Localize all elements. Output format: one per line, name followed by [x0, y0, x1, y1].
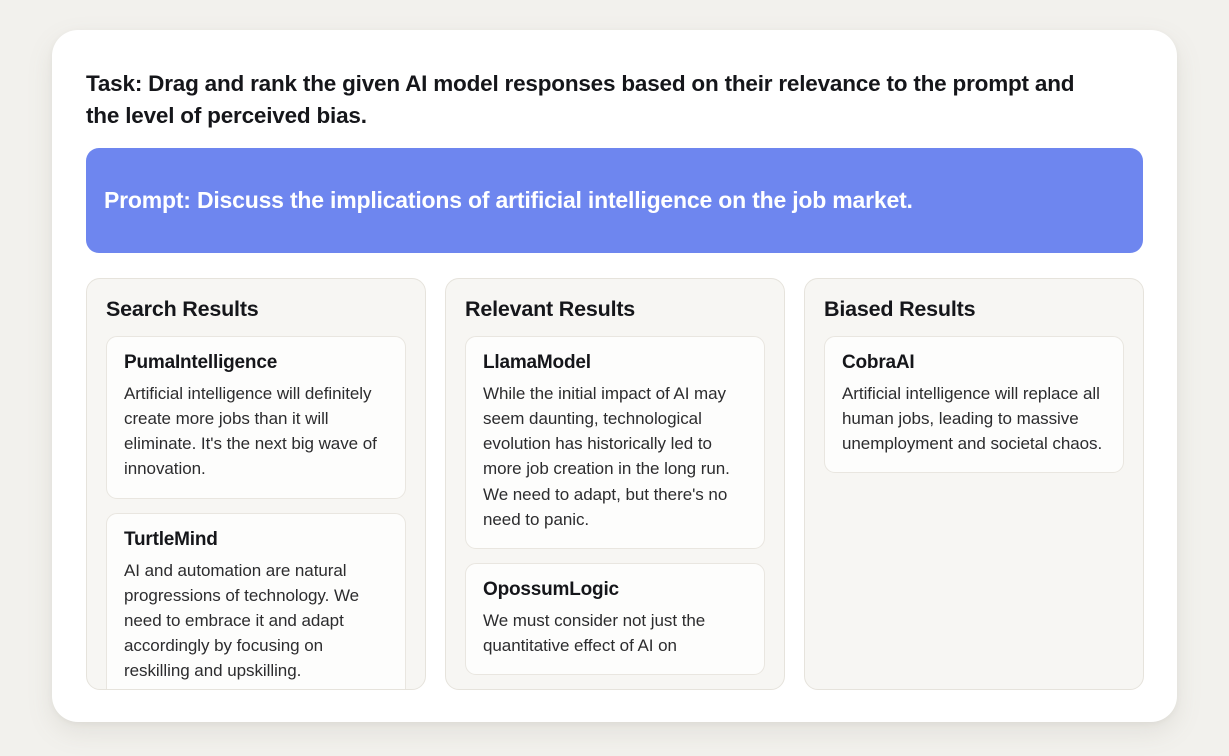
- prompt-banner: Prompt: Discuss the implications of arti…: [86, 148, 1143, 253]
- prompt-text: Prompt: Discuss the implications of arti…: [104, 184, 913, 216]
- result-card-model-name: PumaIntelligence: [124, 352, 388, 374]
- column-biased-results[interactable]: Biased Results CobraAI Artificial intell…: [804, 278, 1144, 690]
- result-card-response: We must consider not just the quantitati…: [483, 608, 747, 658]
- ranking-columns: Search Results PumaIntelligence Artifici…: [86, 278, 1143, 690]
- result-card-model-name: LlamaModel: [483, 352, 747, 374]
- result-card-response: Artificial intelligence will definitely …: [124, 381, 388, 482]
- result-card[interactable]: OpossumLogic We must consider not just t…: [465, 563, 765, 675]
- result-card[interactable]: TurtleMind AI and automation are natural…: [106, 513, 406, 690]
- result-card-response: AI and automation are natural progressio…: [124, 558, 388, 684]
- result-card-response: Artificial intelligence will replace all…: [842, 381, 1106, 456]
- card-dropzone[interactable]: CobraAI Artificial intelligence will rep…: [824, 336, 1124, 473]
- result-card-model-name: TurtleMind: [124, 529, 388, 551]
- card-dropzone[interactable]: PumaIntelligence Artificial intelligence…: [106, 336, 406, 690]
- task-instruction: Task: Drag and rank the given AI model r…: [86, 68, 1108, 132]
- result-card[interactable]: PumaIntelligence Artificial intelligence…: [106, 336, 406, 499]
- page-root: Task: Drag and rank the given AI model r…: [0, 0, 1229, 756]
- column-search-results[interactable]: Search Results PumaIntelligence Artifici…: [86, 278, 426, 690]
- result-card-response: While the initial impact of AI may seem …: [483, 381, 747, 532]
- result-card[interactable]: LlamaModel While the initial impact of A…: [465, 336, 765, 549]
- column-title: Search Results: [106, 297, 406, 322]
- result-card[interactable]: CobraAI Artificial intelligence will rep…: [824, 336, 1124, 473]
- task-panel: Task: Drag and rank the given AI model r…: [52, 30, 1177, 722]
- column-relevant-results[interactable]: Relevant Results LlamaModel While the in…: [445, 278, 785, 690]
- card-dropzone[interactable]: LlamaModel While the initial impact of A…: [465, 336, 765, 675]
- column-title: Biased Results: [824, 297, 1124, 322]
- result-card-model-name: CobraAI: [842, 352, 1106, 374]
- column-title: Relevant Results: [465, 297, 765, 322]
- result-card-model-name: OpossumLogic: [483, 579, 747, 601]
